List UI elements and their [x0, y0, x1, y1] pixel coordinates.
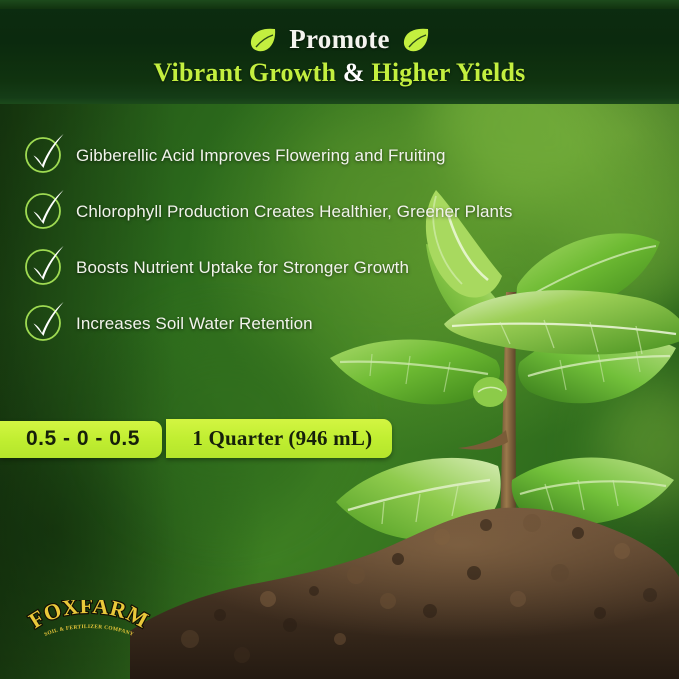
product-feature-poster: Promote Vibrant Growth & Higher Yields G…: [0, 0, 679, 679]
header-line-2-part1: Vibrant Growth: [154, 58, 343, 87]
benefit-label: Boosts Nutrient Uptake for Stronger Grow…: [76, 258, 409, 278]
spec-badges: 0.5 - 0 - 0.5 1 Quarter (946 mL): [0, 398, 392, 458]
svg-text:SOIL & FERTILIZER COMPANY: SOIL & FERTILIZER COMPANY: [44, 624, 135, 638]
header-line-2: Vibrant Growth & Higher Yields: [0, 58, 679, 88]
npk-ratio-badge: 0.5 - 0 - 0.5: [0, 421, 162, 458]
check-circle-icon: [24, 192, 64, 232]
benefits-list: Gibberellic Acid Improves Flowering and …: [24, 128, 584, 352]
volume-badge: 1 Quarter (946 mL): [166, 419, 392, 458]
check-circle-icon: [24, 136, 64, 176]
header-line-1: Promote: [0, 24, 679, 55]
header-ampersand: &: [343, 58, 365, 87]
header-banner: Promote Vibrant Growth & Higher Yields: [0, 0, 679, 104]
benefit-item: Increases Soil Water Retention: [24, 296, 584, 352]
header-promote-text: Promote: [289, 24, 390, 55]
leaf-icon: [249, 27, 277, 53]
benefit-label: Chlorophyll Production Creates Healthier…: [76, 202, 513, 222]
foxfarm-logo: FOXFARM SOIL & FERTILIZER COMPANY: [24, 600, 154, 648]
benefit-item: Boosts Nutrient Uptake for Stronger Grow…: [24, 240, 584, 296]
soil-mound: [130, 489, 679, 679]
leaf-icon: [402, 27, 430, 53]
logo-tagline-text: SOIL & FERTILIZER COMPANY: [44, 624, 135, 638]
benefit-item: Gibberellic Acid Improves Flowering and …: [24, 128, 584, 184]
benefit-item: Chlorophyll Production Creates Healthier…: [24, 184, 584, 240]
header-line-2-part2: Higher Yields: [365, 58, 526, 87]
benefit-label: Gibberellic Acid Improves Flowering and …: [76, 146, 446, 166]
check-circle-icon: [24, 304, 64, 344]
benefit-label: Increases Soil Water Retention: [76, 314, 313, 334]
check-circle-icon: [24, 248, 64, 288]
